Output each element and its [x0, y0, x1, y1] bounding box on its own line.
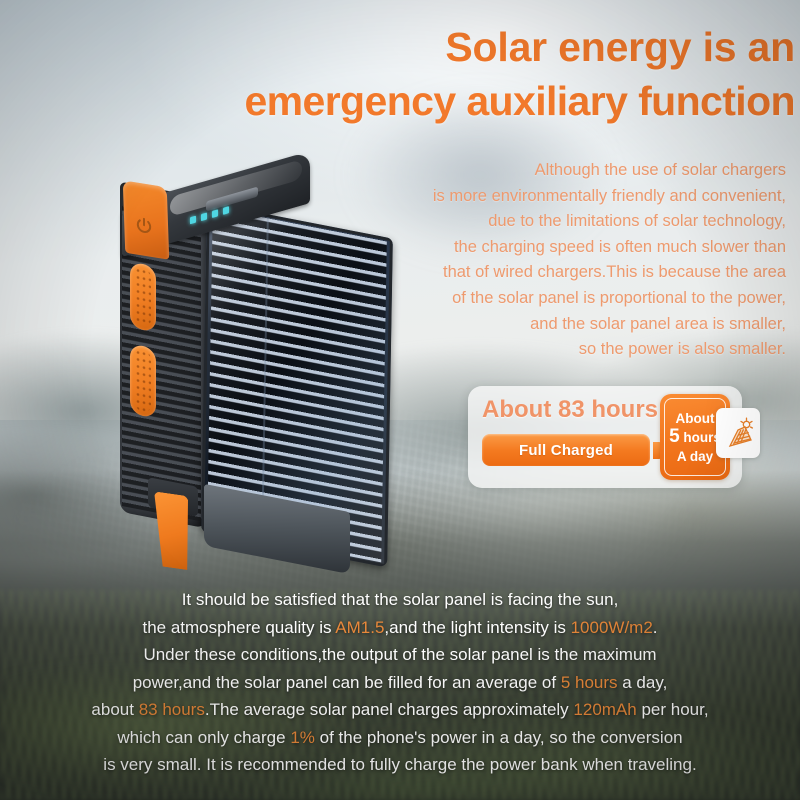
- battery-label: Full Charged: [519, 442, 613, 459]
- full-charged-battery-bar: Full Charged: [482, 434, 664, 466]
- bottom-line: Under these conditions,the output of the…: [20, 641, 780, 669]
- bottom-line: It should be satisfied that the solar pa…: [20, 586, 780, 614]
- bottom-line: is very small. It is recommended to full…: [20, 751, 780, 779]
- bottom-line: power,and the solar panel can be filled …: [20, 669, 780, 697]
- text-run: is very small. It is recommended to full…: [103, 755, 696, 774]
- highlight-value: AM1.5: [335, 618, 384, 637]
- total-hours-label: About 83 hours: [482, 396, 658, 424]
- highlight-value: 1000W/m2: [571, 618, 653, 637]
- led-dot: [223, 206, 229, 215]
- headline-line-1: Solar energy is an: [60, 20, 795, 74]
- bottom-line: the atmosphere quality is AM1.5,and the …: [20, 614, 780, 642]
- side-grip-upper: [130, 261, 156, 332]
- text-run: .The average solar panel charges approxi…: [205, 700, 574, 719]
- bottom-line: which can only charge 1% of the phone's …: [20, 724, 780, 752]
- text-run: .: [653, 618, 658, 637]
- text-run: power,and the solar panel can be filled …: [133, 673, 561, 692]
- headline: Solar energy is an emergency auxiliary f…: [60, 20, 795, 128]
- text-run: about: [91, 700, 138, 719]
- text-run: the atmosphere quality is: [142, 618, 335, 637]
- badge-line-value: 5 hours: [669, 427, 721, 448]
- text-run: per hour,: [637, 700, 709, 719]
- marketing-image: Solar energy is an emergency auxiliary f…: [0, 0, 800, 800]
- highlight-value: 83 hours: [139, 700, 205, 719]
- carry-strap: [154, 491, 192, 570]
- badge-line-a-day: A day: [677, 448, 713, 465]
- text-run: ,and the light intensity is: [384, 618, 570, 637]
- badge-line-about: About: [676, 410, 715, 427]
- power-icon: [134, 214, 154, 238]
- highlight-value: 5 hours: [561, 673, 618, 692]
- led-dot: [190, 216, 196, 225]
- solar-power-bank-image: [108, 168, 398, 568]
- charging-info-panel: About 83 hours Full Charged About 5 hour…: [468, 386, 742, 488]
- bottom-paragraph: It should be satisfied that the solar pa…: [20, 586, 780, 779]
- text-run: It should be satisfied that the solar pa…: [182, 590, 619, 609]
- headline-line-2: emergency auxiliary function: [60, 74, 795, 128]
- text-run: Under these conditions,the output of the…: [143, 645, 656, 664]
- text-run: of the phone's power in a day, so the co…: [315, 728, 683, 747]
- text-run: which can only charge: [117, 728, 290, 747]
- side-grip-lower: [130, 343, 156, 418]
- badge-value-number: 5: [669, 426, 680, 447]
- bottom-line: about 83 hours.The average solar panel c…: [20, 696, 780, 724]
- highlight-value: 1%: [290, 728, 315, 747]
- led-dot: [201, 212, 207, 221]
- led-dot: [212, 209, 218, 218]
- solar-panel-sun-icon: [716, 408, 760, 458]
- highlight-value: 120mAh: [573, 700, 636, 719]
- text-run: a day,: [618, 673, 668, 692]
- battery-body: Full Charged: [482, 434, 650, 466]
